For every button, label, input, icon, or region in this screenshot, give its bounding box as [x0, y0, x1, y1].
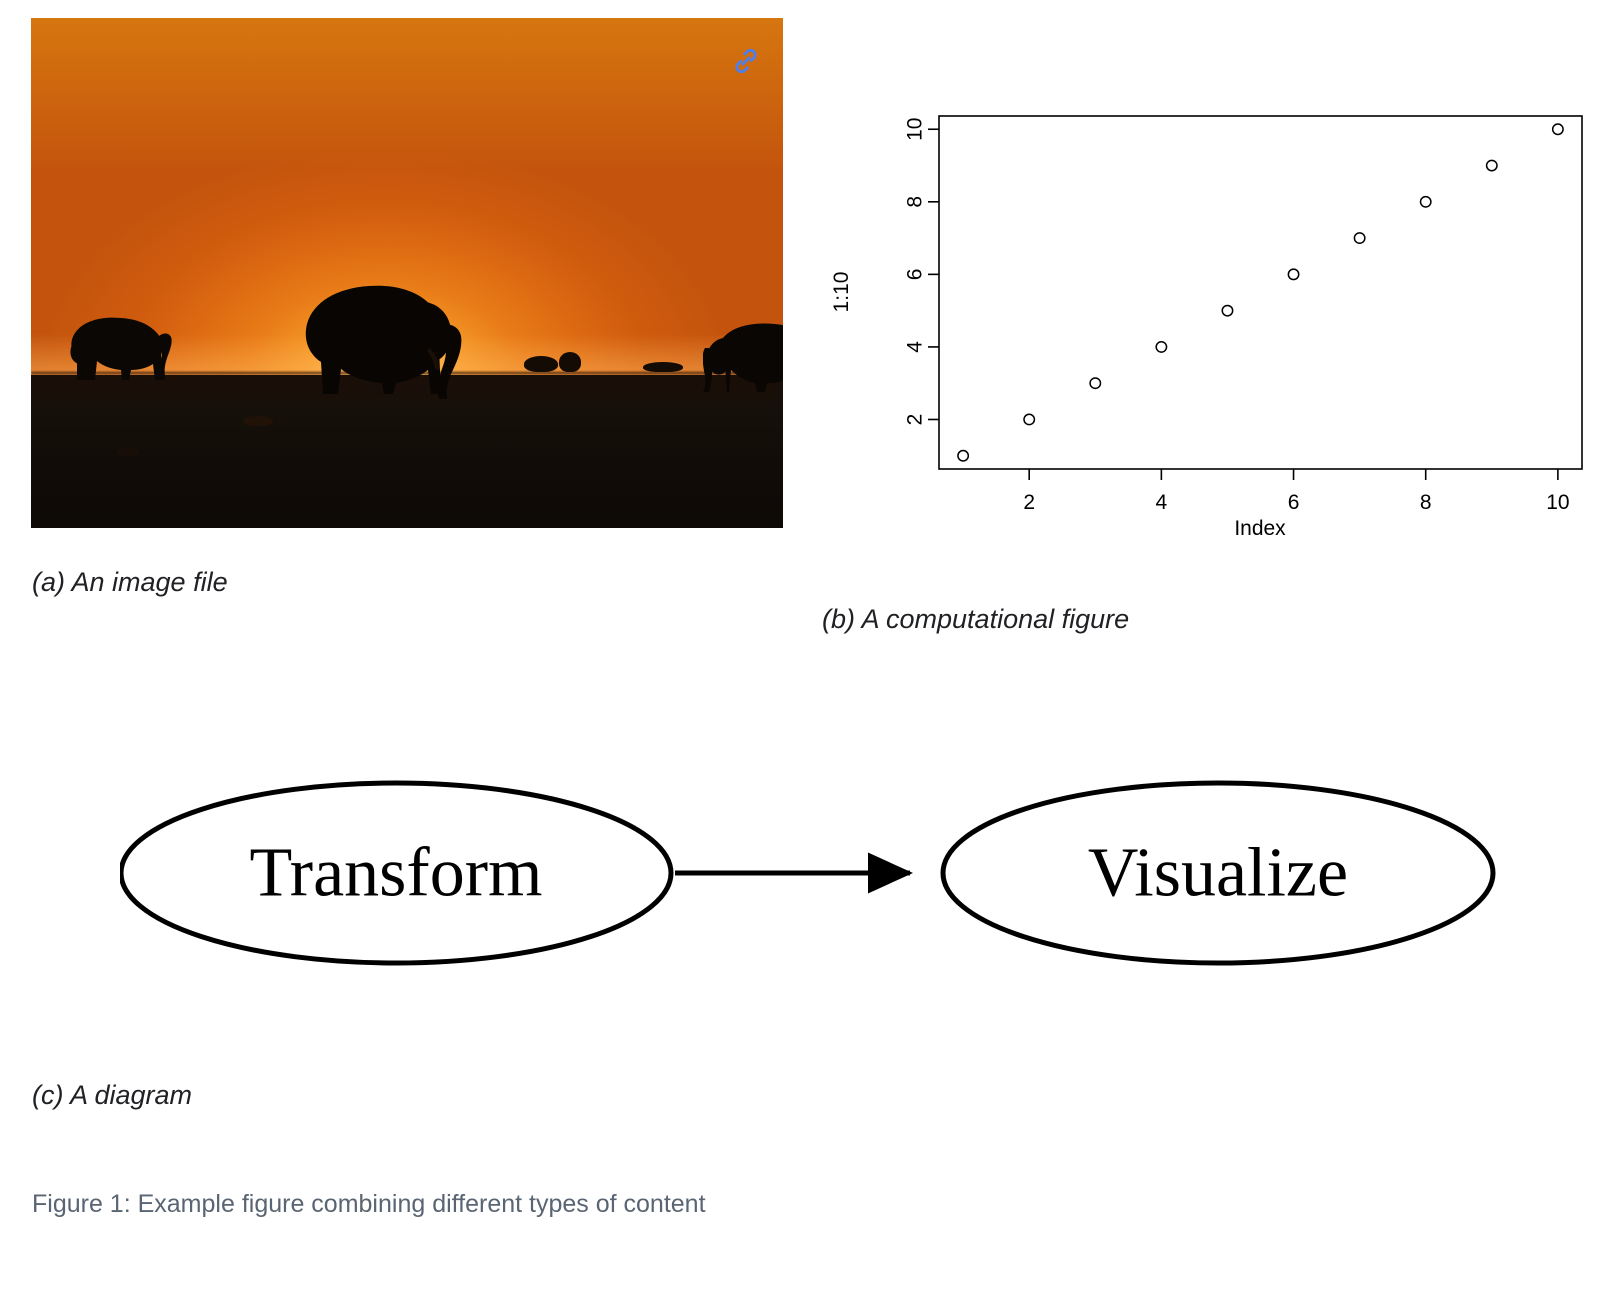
elephant-silhouette-right	[703, 314, 783, 396]
transform-label: Transform	[250, 835, 543, 912]
x-tick-label: 2	[1023, 491, 1035, 514]
data-point	[1222, 305, 1232, 315]
visualize-label: Visualize	[1088, 835, 1348, 912]
x-tick-label: 4	[1156, 491, 1168, 514]
figure-caption: Figure 1: Example figure combining diffe…	[32, 1190, 706, 1219]
y-tick-label: 10	[904, 118, 927, 141]
y-axis-ticks: 246810	[904, 118, 940, 426]
data-points	[958, 124, 1563, 461]
flow-diagram: Transform Visualize	[120, 740, 1500, 1060]
x-tick-label: 10	[1546, 491, 1569, 514]
foreground-rock-1	[243, 416, 273, 426]
y-tick-label: 6	[904, 269, 927, 281]
data-point	[1487, 160, 1497, 170]
sky-upper-band	[31, 18, 783, 171]
elephant-silhouette-left	[63, 306, 183, 384]
panel-diagram: Transform Visualize	[120, 740, 1500, 1060]
data-point	[958, 451, 968, 461]
y-tick-label: 8	[904, 196, 927, 208]
data-point	[1156, 342, 1166, 352]
y-tick-label: 4	[904, 341, 927, 353]
shrub-right	[559, 352, 581, 372]
node-transform[interactable]: Transform	[121, 783, 671, 963]
subcaption-c: (c) A diagram	[32, 1080, 192, 1111]
x-tick-label: 8	[1420, 491, 1432, 514]
link-icon[interactable]	[731, 46, 761, 76]
data-point	[1024, 414, 1034, 424]
subcaption-a: (a) An image file	[32, 567, 228, 598]
shrub-left	[524, 356, 558, 372]
data-point	[1354, 233, 1364, 243]
panel-image-file	[31, 18, 783, 528]
data-point	[1553, 124, 1563, 134]
x-axis-label: Index	[1234, 517, 1286, 540]
elephant-silhouette-center	[289, 274, 469, 399]
plot-frame	[939, 116, 1582, 469]
sunset-elephants-photo	[31, 18, 783, 528]
shrub-far	[643, 362, 683, 372]
y-tick-label: 2	[904, 414, 927, 426]
x-axis-ticks: 246810	[1023, 469, 1569, 514]
scatter-plot: 246810 246810 Index 1:10	[820, 80, 1610, 560]
data-point	[1090, 378, 1100, 388]
data-point	[1288, 269, 1298, 279]
panel-computational-figure: 246810 246810 Index 1:10	[820, 80, 1610, 560]
subcaption-b: (b) A computational figure	[822, 604, 1129, 635]
data-point	[1421, 197, 1431, 207]
x-tick-label: 6	[1288, 491, 1300, 514]
y-axis-label: 1:10	[830, 272, 853, 313]
node-visualize[interactable]: Visualize	[943, 783, 1493, 963]
foreground-rock-2	[117, 448, 139, 456]
